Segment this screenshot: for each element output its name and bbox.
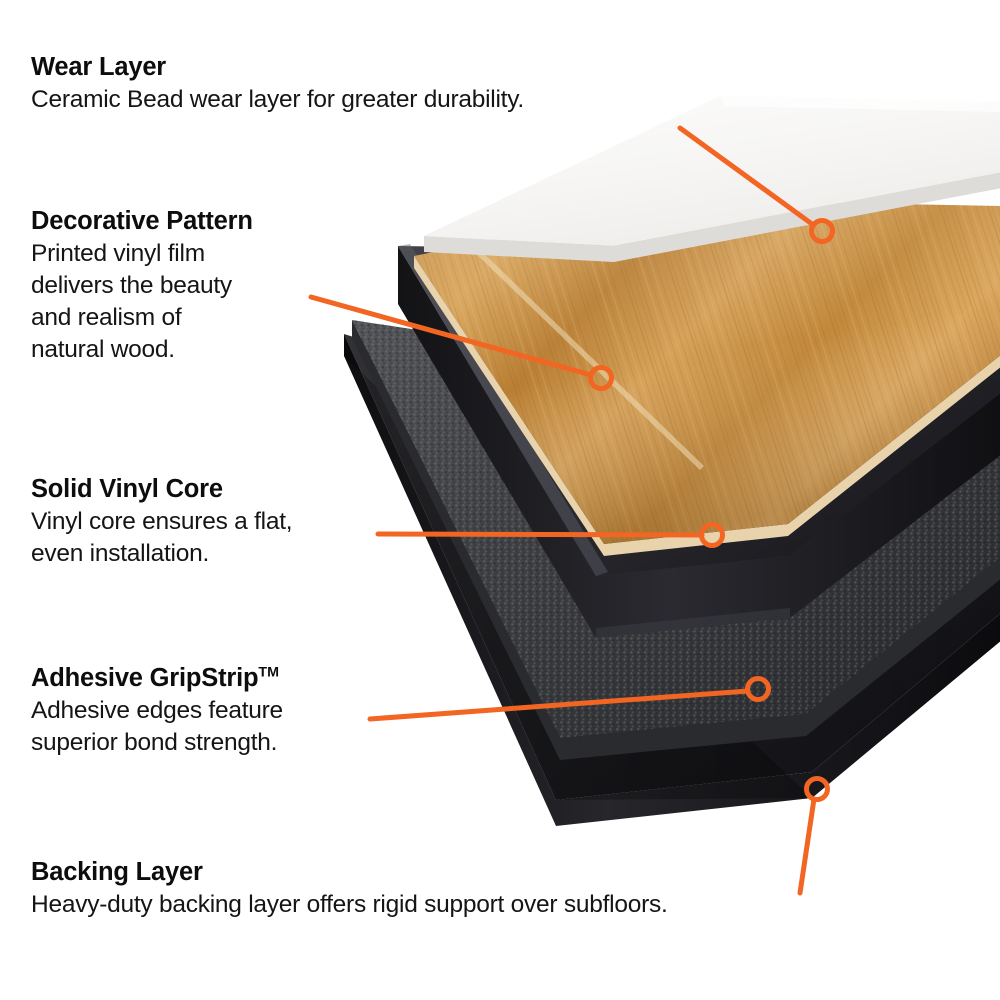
leader-line-wear-layer: [680, 128, 812, 224]
callout-solid-vinyl-core: Solid Vinyl Core Vinyl core ensures a fl…: [31, 475, 292, 570]
callout-body-backing-layer: Heavy-duty backing layer offers rigid su…: [31, 889, 668, 921]
leader-line-decorative-pattern: [311, 297, 591, 375]
callout-marker-backing-layer: [807, 779, 828, 800]
callout-title-solid-vinyl-core: Solid Vinyl Core: [31, 475, 292, 504]
callout-title-text: Adhesive GripStrip: [31, 664, 258, 692]
figure-canvas: Wear Layer Ceramic Bead wear layer for g…: [0, 0, 1000, 1000]
callout-decorative-pattern: Decorative Pattern Printed vinyl film de…: [31, 207, 253, 365]
callout-adhesive-gripstrip: Adhesive GripStripTM Adhesive edges feat…: [31, 664, 283, 759]
callout-title-decorative-pattern: Decorative Pattern: [31, 207, 253, 236]
leader-line-adhesive-gripstrip: [370, 691, 748, 719]
callout-body-wear-layer: Ceramic Bead wear layer for greater dura…: [31, 84, 524, 116]
decorative-pattern-layer-shape: [414, 200, 1000, 556]
callout-title-wear-layer: Wear Layer: [31, 53, 524, 82]
gripstrip-layer-shape: [352, 320, 1000, 760]
callout-marker-wear-layer: [812, 221, 833, 242]
callout-backing-layer: Backing Layer Heavy-duty backing layer o…: [31, 858, 668, 921]
callout-wear-layer: Wear Layer Ceramic Bead wear layer for g…: [31, 53, 524, 116]
callout-marker-adhesive-gripstrip: [748, 679, 769, 700]
callout-title-text: Solid Vinyl Core: [31, 475, 223, 503]
callout-title-text: Backing Layer: [31, 858, 203, 886]
trademark-superscript: TM: [258, 665, 279, 681]
wear-layer-shape: [424, 96, 1000, 262]
callout-body-adhesive-gripstrip: Adhesive edges feature superior bond str…: [31, 695, 283, 759]
callout-title-adhesive-gripstrip: Adhesive GripStripTM: [31, 664, 283, 693]
callout-marker-solid-vinyl-core: [702, 525, 723, 546]
leader-line-backing-layer: [800, 799, 814, 893]
callout-body-solid-vinyl-core: Vinyl core ensures a flat, even installa…: [31, 506, 292, 570]
backing-layer-shape: [344, 334, 1000, 826]
callout-title-text: Decorative Pattern: [31, 207, 253, 235]
callout-title-text: Wear Layer: [31, 53, 166, 81]
callout-title-backing-layer: Backing Layer: [31, 858, 668, 887]
vinyl-core-layer-shape: [398, 244, 1000, 638]
callout-body-decorative-pattern: Printed vinyl film delivers the beauty a…: [31, 238, 253, 365]
callout-marker-decorative-pattern: [591, 368, 612, 389]
leader-line-solid-vinyl-core: [378, 534, 702, 535]
